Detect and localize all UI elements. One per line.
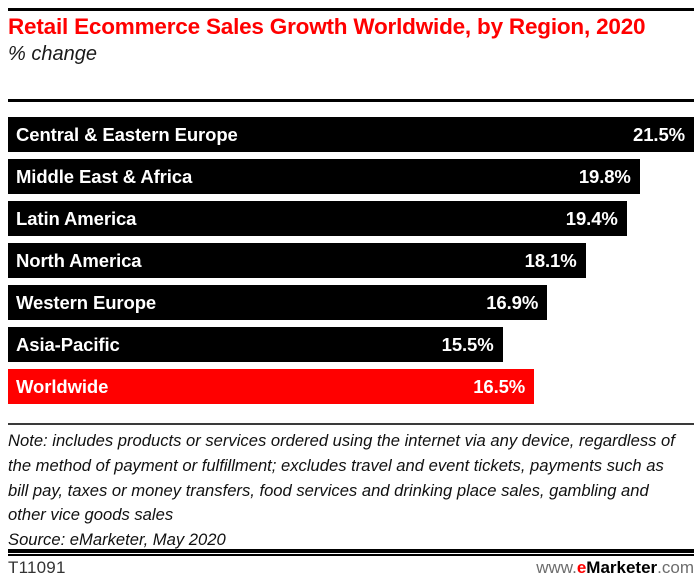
bar-row: Asia-Pacific15.5% bbox=[8, 327, 694, 362]
bar-category-label: North America bbox=[16, 250, 142, 272]
chart-subtitle: % change bbox=[8, 42, 668, 66]
brand-com-suffix: .com bbox=[657, 558, 694, 577]
bar-value-label: 19.8% bbox=[569, 166, 631, 188]
bar-row: North America18.1% bbox=[8, 243, 694, 278]
bar-value-label: 18.1% bbox=[515, 250, 577, 272]
bar-category-label: Western Europe bbox=[16, 292, 156, 314]
bar-central-eastern-europe: Central & Eastern Europe21.5% bbox=[8, 117, 694, 152]
bar-asia-pacific: Asia-Pacific15.5% bbox=[8, 327, 503, 362]
bar-western-europe: Western Europe16.9% bbox=[8, 285, 547, 320]
bar-value-label: 16.5% bbox=[463, 376, 525, 398]
chart-id-label: T11091 bbox=[8, 558, 66, 578]
bar-value-label: 16.9% bbox=[476, 292, 538, 314]
bar-north-america: North America18.1% bbox=[8, 243, 586, 278]
bar-row: Latin America19.4% bbox=[8, 201, 694, 236]
chart-footer: T11091 www.eMarketer.com bbox=[8, 558, 694, 578]
top-divider-rule bbox=[8, 8, 694, 11]
chart-header: Retail Ecommerce Sales Growth Worldwide,… bbox=[8, 13, 668, 66]
brand-e-letter: e bbox=[577, 558, 586, 577]
chart-note-block: Note: includes products or services orde… bbox=[8, 429, 680, 553]
bar-row: Western Europe16.9% bbox=[8, 285, 694, 320]
emarketer-brand-wordmark[interactable]: www.eMarketer.com bbox=[536, 558, 694, 578]
bar-row: Middle East & Africa19.8% bbox=[8, 159, 694, 194]
emarketer-chart-card: Retail Ecommerce Sales Growth Worldwide,… bbox=[0, 0, 700, 588]
bar-category-label: Middle East & Africa bbox=[16, 166, 192, 188]
bar-worldwide: Worldwide16.5% bbox=[8, 369, 534, 404]
bar-category-label: Latin America bbox=[16, 208, 136, 230]
bar-value-label: 19.4% bbox=[556, 208, 618, 230]
brand-marketer-word: Marketer bbox=[586, 558, 657, 577]
bar-middle-east-africa: Middle East & Africa19.8% bbox=[8, 159, 640, 194]
bar-category-label: Asia-Pacific bbox=[16, 334, 120, 356]
bar-latin-america: Latin America19.4% bbox=[8, 201, 627, 236]
bar-category-label: Worldwide bbox=[16, 376, 108, 398]
note-divider-rule bbox=[8, 423, 694, 425]
bar-chart-plot: Central & Eastern Europe21.5%Middle East… bbox=[8, 117, 694, 411]
header-divider-rule bbox=[8, 99, 694, 102]
bar-value-label: 15.5% bbox=[432, 334, 494, 356]
bar-category-label: Central & Eastern Europe bbox=[16, 124, 238, 146]
chart-note-text: Note: includes products or services orde… bbox=[8, 429, 680, 528]
bar-row: Worldwide16.5% bbox=[8, 369, 694, 404]
bar-row: Central & Eastern Europe21.5% bbox=[8, 117, 694, 152]
brand-www-prefix: www. bbox=[536, 558, 577, 577]
footer-divider-rule bbox=[8, 549, 694, 554]
bar-value-label: 21.5% bbox=[623, 124, 685, 146]
chart-title: Retail Ecommerce Sales Growth Worldwide,… bbox=[8, 13, 668, 40]
